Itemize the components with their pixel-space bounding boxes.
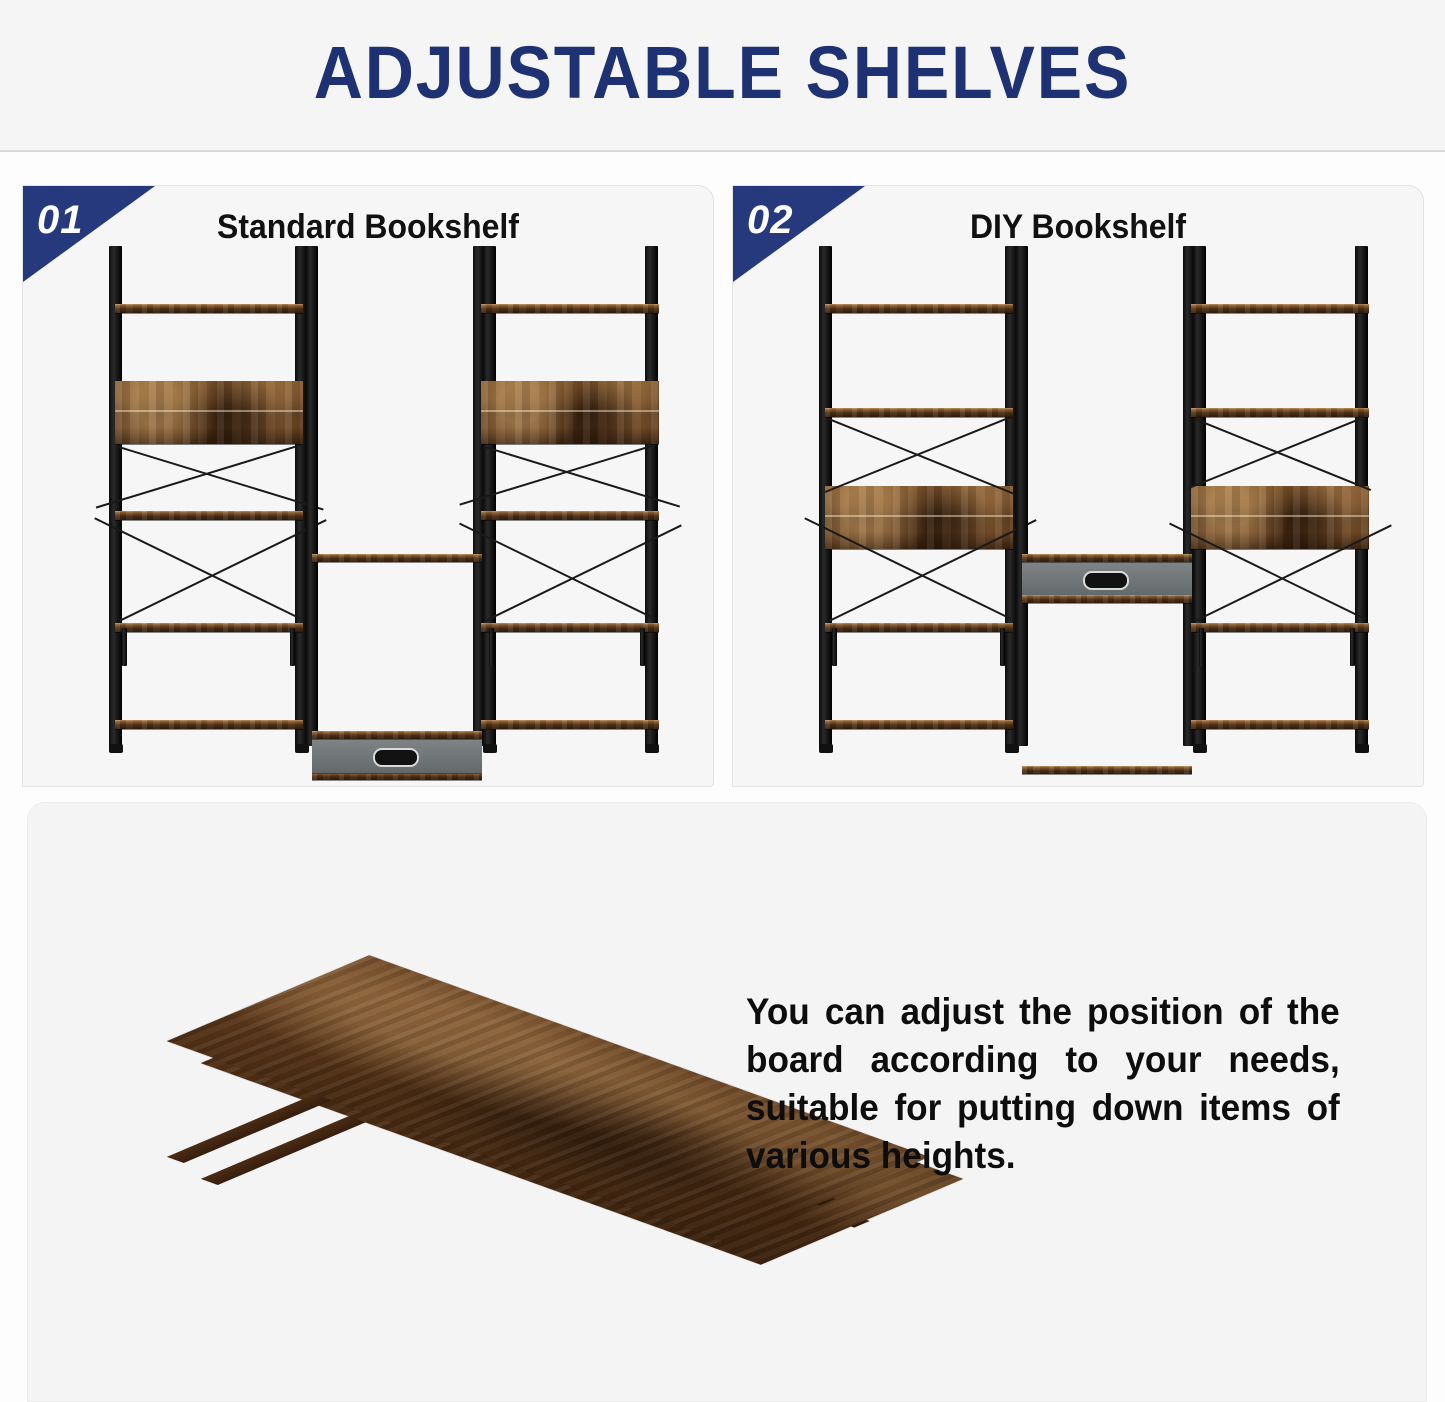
shelf <box>115 720 303 729</box>
bracket-right <box>1000 628 1005 666</box>
post-foot <box>819 744 833 753</box>
shelf <box>825 623 1013 632</box>
card-diy-bookshelf: 02 DIY Bookshelf <box>732 185 1424 787</box>
bookshelf-illustration-diy <box>733 186 1423 786</box>
post-foot <box>483 744 497 753</box>
shelf <box>115 511 303 520</box>
shelf <box>1191 408 1369 417</box>
post-foot <box>1193 744 1207 753</box>
thick-wood-panel <box>481 381 659 444</box>
post-mid-left <box>1016 246 1028 746</box>
shelf <box>1191 720 1369 729</box>
drawer-handle-icon[interactable] <box>1083 571 1129 590</box>
cross-brace <box>1194 418 1371 491</box>
shelf <box>1191 304 1369 313</box>
header-divider <box>0 150 1445 152</box>
bracket-left <box>489 628 494 666</box>
bracket-right <box>290 628 295 666</box>
page-title: ADJUSTABLE SHELVES <box>58 36 1387 110</box>
shelf <box>825 304 1013 313</box>
thick-wood-panel <box>825 486 1013 549</box>
adjustable-board-panel: You can adjust the position of the board… <box>27 802 1427 1402</box>
shelf <box>481 304 659 313</box>
post-mid-left <box>306 246 318 746</box>
post-foot <box>109 744 123 753</box>
cross-brace <box>96 444 301 508</box>
bookshelf-illustration-standard <box>23 186 713 786</box>
post-foot <box>1355 744 1369 753</box>
card-standard-bookshelf: 01 Standard Bookshelf <box>22 185 714 787</box>
shelf-drawer-top <box>1022 554 1192 562</box>
shelf-drawer-top <box>312 731 482 739</box>
cross-brace <box>118 446 323 510</box>
shelf <box>825 408 1013 417</box>
shelf <box>825 720 1013 729</box>
bracket-left <box>122 628 127 666</box>
bracket-right <box>640 628 645 666</box>
shelf <box>1022 766 1192 774</box>
panel-seam <box>825 515 1013 517</box>
wood-board-stack-illustration <box>63 933 723 1263</box>
panel-seam <box>1191 515 1369 517</box>
panel-seam <box>481 410 659 412</box>
drawer-handle-icon[interactable] <box>373 748 419 767</box>
post-foot <box>645 744 659 753</box>
thick-wood-panel <box>115 381 303 444</box>
page-header: ADJUSTABLE SHELVES <box>0 0 1445 152</box>
shelf <box>481 511 659 520</box>
cross-brace <box>828 418 1014 495</box>
shelf-drawer-bottom <box>1022 595 1192 603</box>
post-left-outer <box>109 246 122 746</box>
shelf <box>115 304 303 313</box>
bracket-left <box>832 628 837 666</box>
panel-seam <box>115 410 303 412</box>
board-description-text: You can adjust the position of the board… <box>746 988 1340 1180</box>
shelf <box>312 554 482 562</box>
shelf <box>1191 623 1369 632</box>
shelf <box>115 623 303 632</box>
shelf <box>481 720 659 729</box>
bracket-right <box>1350 628 1355 666</box>
bracket-left <box>1199 628 1204 666</box>
cross-brace <box>94 517 302 620</box>
shelf <box>481 623 659 632</box>
thick-wood-panel <box>1191 486 1369 549</box>
